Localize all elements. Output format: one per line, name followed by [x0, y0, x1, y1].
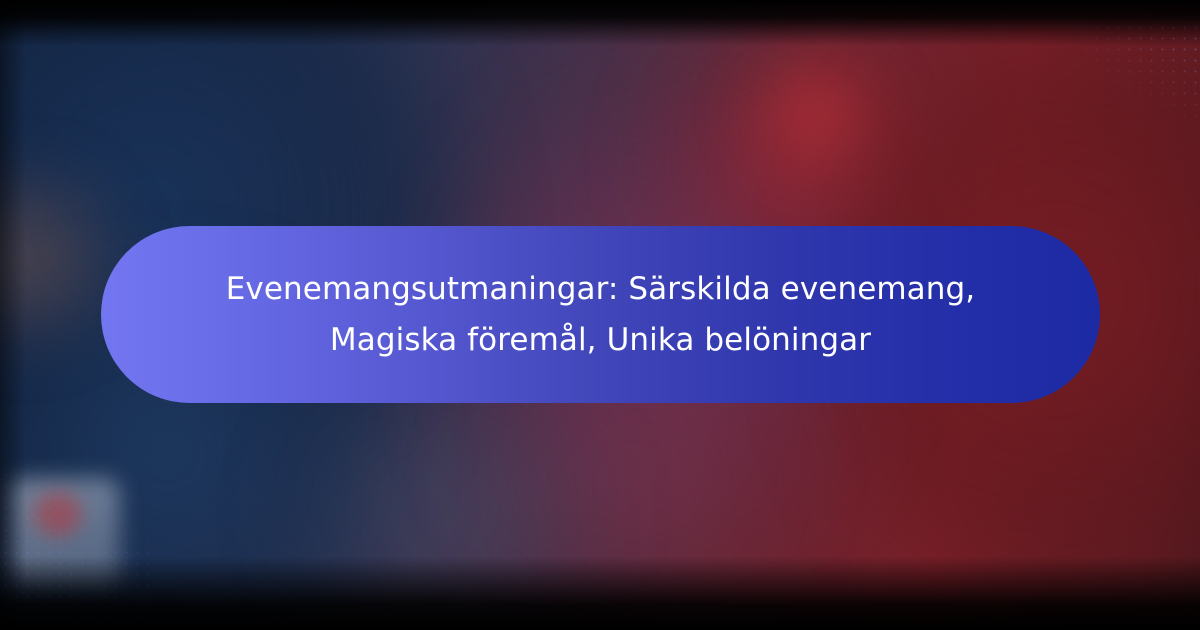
bottom-edge-vignette	[0, 556, 1200, 630]
preview-card-canvas: Evenemangsutmaningar: Särskilda eveneman…	[0, 0, 1200, 630]
left-edge-vignette	[0, 0, 26, 630]
top-edge-vignette	[0, 0, 1200, 46]
background-ghost-card-accent	[34, 492, 82, 536]
headline-pill: Evenemangsutmaningar: Särskilda eveneman…	[101, 226, 1100, 403]
headline-text: Evenemangsutmaningar: Särskilda eveneman…	[226, 264, 976, 364]
